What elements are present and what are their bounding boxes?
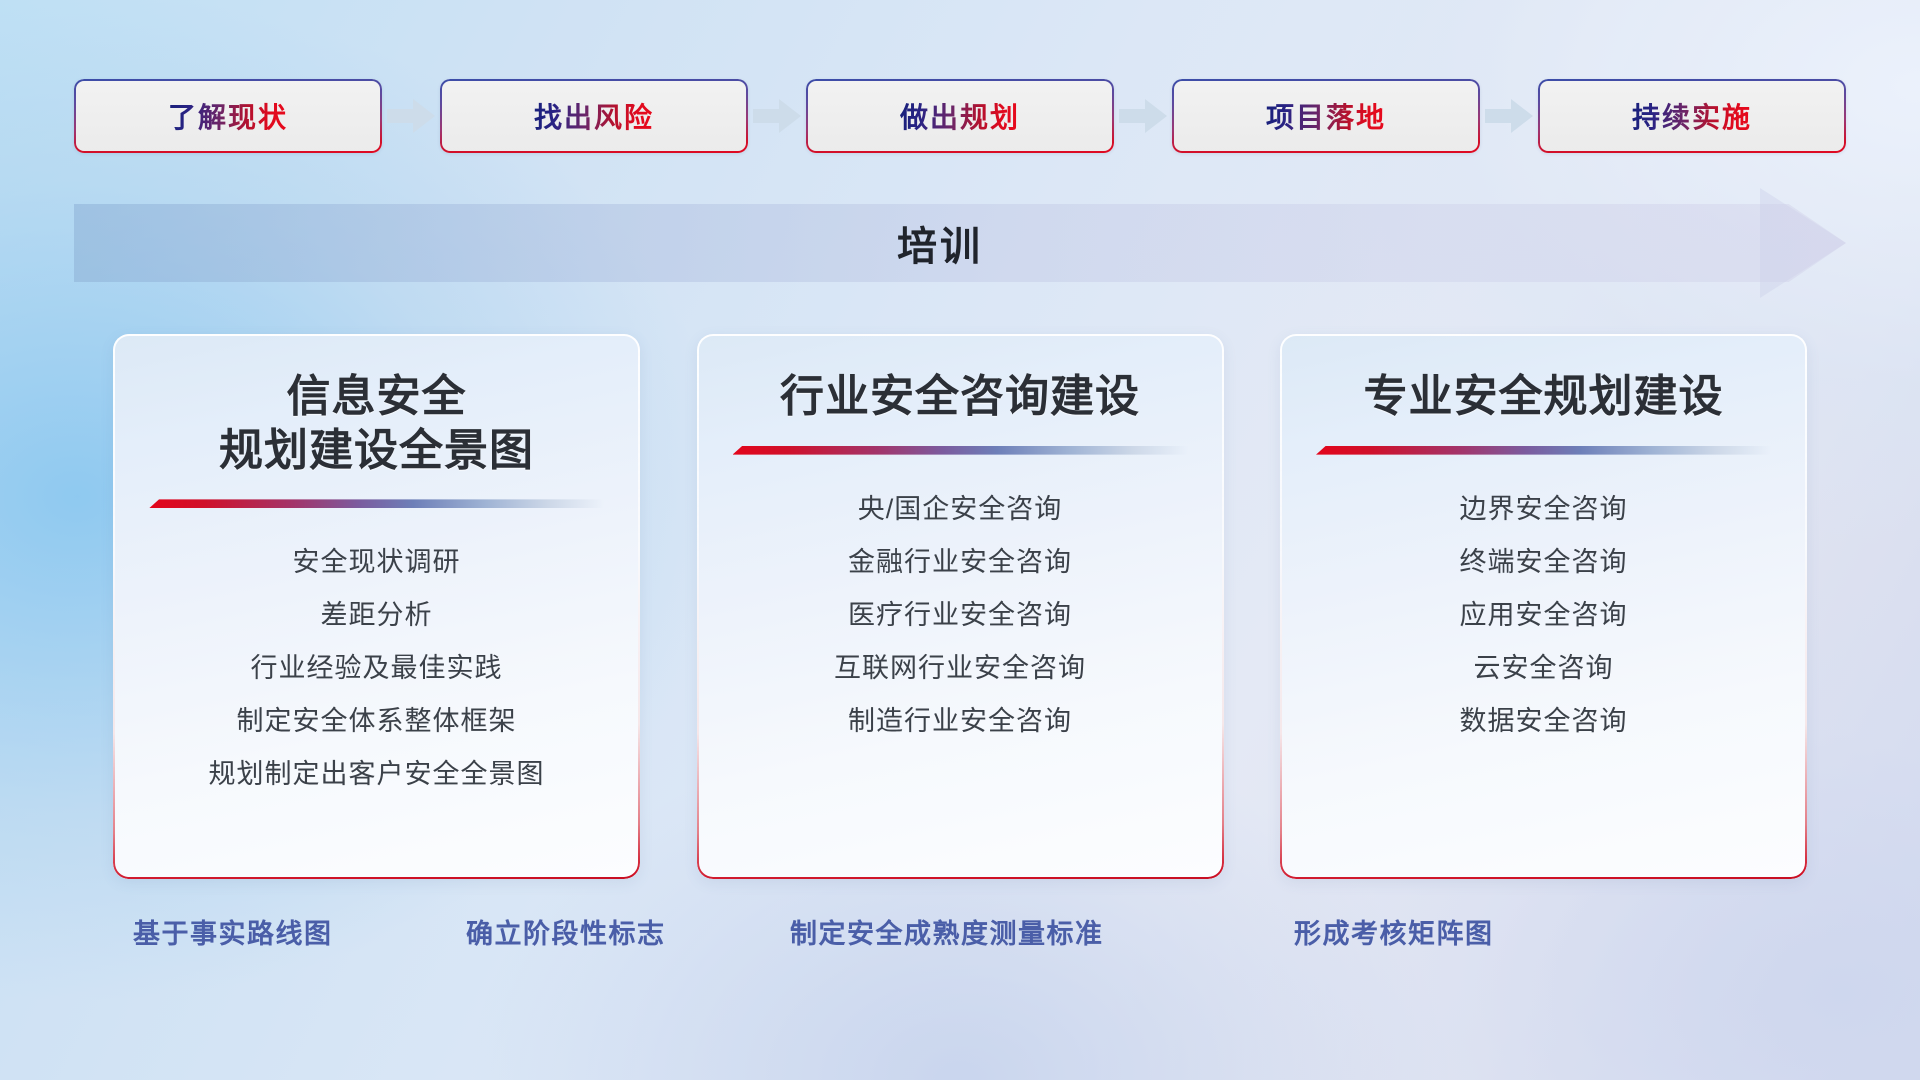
list-item: 云安全咨询 bbox=[1460, 642, 1628, 695]
card-industry-security-consulting[interactable]: 行业安全咨询建设 央/国企安全咨询 金融行业安全咨询 医疗行业安全咨询 互联网行… bbox=[697, 334, 1224, 879]
list-item: 央/国企安全咨询 bbox=[834, 483, 1086, 536]
step-box-5[interactable]: 持续实施 bbox=[1538, 79, 1846, 153]
card-title: 行业安全咨询建设 bbox=[780, 370, 1140, 424]
step-box-4[interactable]: 项目落地 bbox=[1172, 79, 1480, 153]
card-professional-security-planning[interactable]: 专业安全规划建设 边界安全咨询 终端安全咨询 应用安全咨询 云安全咨询 数据安全… bbox=[1280, 334, 1807, 879]
list-item: 边界安全咨询 bbox=[1460, 483, 1628, 536]
training-banner: 培训 bbox=[74, 204, 1846, 282]
card-title: 信息安全 规划建设全景图 bbox=[219, 370, 534, 477]
step-box-3[interactable]: 做出规划 bbox=[806, 79, 1114, 153]
step-label: 做出规划 bbox=[900, 96, 1020, 136]
list-item: 制造行业安全咨询 bbox=[834, 695, 1086, 748]
caption-maturity-standard: 制定安全成熟度测量标准 bbox=[790, 912, 1104, 951]
banner-title: 培训 bbox=[74, 204, 1846, 282]
step-label: 找出风险 bbox=[534, 96, 654, 136]
list-item: 应用安全咨询 bbox=[1460, 589, 1628, 642]
step-label: 了解现状 bbox=[168, 96, 288, 136]
step-label: 项目落地 bbox=[1266, 96, 1386, 136]
slide-canvas: 了解现状 找出风险 做出规划 项目落地 持续实施 培训 bbox=[0, 0, 1920, 1080]
card-information-security-blueprint[interactable]: 信息安全 规划建设全景图 安全现状调研 差距分析 行业经验及最佳实践 制定安全体… bbox=[113, 334, 640, 879]
list-item: 差距分析 bbox=[209, 589, 545, 642]
arrow-right-icon bbox=[1114, 96, 1172, 136]
step-box-2[interactable]: 找出风险 bbox=[440, 79, 748, 153]
caption-milestones: 确立阶段性标志 bbox=[466, 912, 666, 951]
card-accent-rule bbox=[1316, 446, 1771, 455]
arrow-right-icon bbox=[382, 96, 440, 136]
step-label: 持续实施 bbox=[1632, 96, 1752, 136]
list-item: 数据安全咨询 bbox=[1460, 695, 1628, 748]
list-item: 规划制定出客户安全全景图 bbox=[209, 748, 545, 801]
list-item: 金融行业安全咨询 bbox=[834, 536, 1086, 589]
card-item-list: 边界安全咨询 终端安全咨询 应用安全咨询 云安全咨询 数据安全咨询 bbox=[1460, 483, 1628, 748]
card-title: 专业安全规划建设 bbox=[1364, 370, 1724, 424]
arrow-right-icon bbox=[1480, 96, 1538, 136]
caption-row: 基于事实路线图 确立阶段性标志 制定安全成熟度测量标准 形成考核矩阵图 bbox=[0, 912, 1920, 958]
list-item: 医疗行业安全咨询 bbox=[834, 589, 1086, 642]
process-step-bar: 了解现状 找出风险 做出规划 项目落地 持续实施 bbox=[74, 78, 1846, 154]
arrow-right-icon bbox=[748, 96, 806, 136]
card-item-list: 央/国企安全咨询 金融行业安全咨询 医疗行业安全咨询 互联网行业安全咨询 制造行… bbox=[834, 483, 1086, 748]
card-accent-rule bbox=[733, 446, 1188, 455]
list-item: 互联网行业安全咨询 bbox=[834, 642, 1086, 695]
step-box-1[interactable]: 了解现状 bbox=[74, 79, 382, 153]
list-item: 安全现状调研 bbox=[209, 536, 545, 589]
card-accent-rule bbox=[149, 499, 604, 508]
card-row: 信息安全 规划建设全景图 安全现状调研 差距分析 行业经验及最佳实践 制定安全体… bbox=[113, 334, 1807, 879]
card-item-list: 安全现状调研 差距分析 行业经验及最佳实践 制定安全体系整体框架 规划制定出客户… bbox=[209, 536, 545, 801]
caption-assessment-matrix: 形成考核矩阵图 bbox=[1294, 912, 1494, 951]
list-item: 制定安全体系整体框架 bbox=[209, 695, 545, 748]
list-item: 终端安全咨询 bbox=[1460, 536, 1628, 589]
caption-roadmap: 基于事实路线图 bbox=[133, 912, 333, 951]
list-item: 行业经验及最佳实践 bbox=[209, 642, 545, 695]
